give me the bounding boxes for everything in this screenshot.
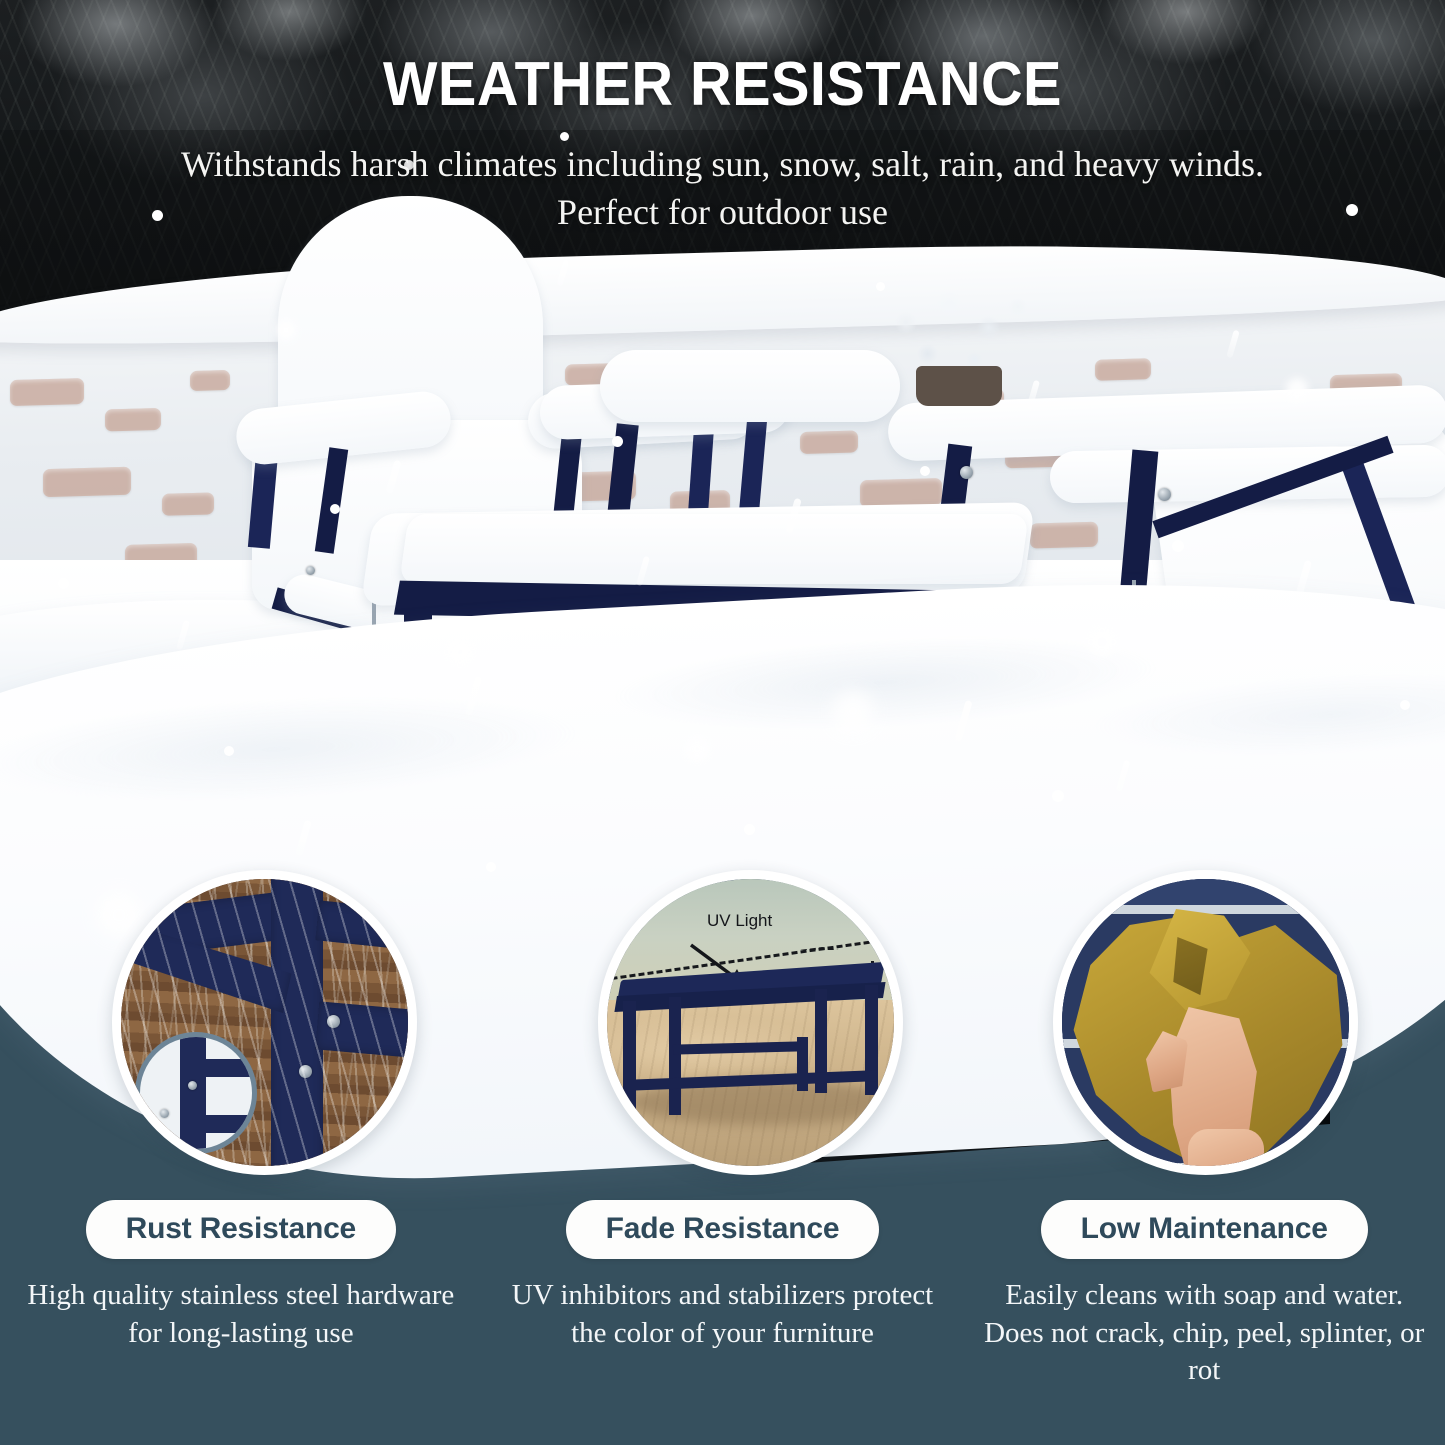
page-title: WEATHER RESISTANCE [51,52,1395,117]
low-maintenance-thumbnail[interactable] [1053,870,1358,1175]
navy-slat [1062,879,1349,905]
feature-description-maintenance: Easily cleans with soap and water. Does … [981,1277,1427,1390]
table-leg [623,1001,636,1113]
feature-card-maintenance: Low Maintenance Easily cleans with soap … [963,1200,1445,1445]
status-badge-rust[interactable]: Rust Resistance [86,1200,396,1259]
screw-head [188,1081,197,1090]
rust-resistance-thumbnail[interactable] [112,870,417,1175]
feature-description-rust: High quality stainless steel hardware fo… [18,1277,464,1352]
status-badge-maintenance[interactable]: Low Maintenance [1041,1200,1368,1259]
feature-card-rust: Rust Resistance High quality stainless s… [0,1200,482,1445]
status-badge-fade[interactable]: Fade Resistance [566,1200,880,1259]
screw-head [160,1109,169,1118]
forearm [1188,1129,1264,1166]
feature-card-fade: Fade Resistance UV inhibitors and stabil… [482,1200,964,1445]
slat-gap [1062,905,1349,914]
uv-light-label: UV Light [707,911,772,931]
magnified-joint-inset [135,1032,257,1154]
feature-description-fade: UV inhibitors and stabilizers protect th… [500,1277,946,1352]
feature-cards: Rust Resistance High quality stainless s… [0,1200,1445,1445]
infographic-stage: UV Light [0,0,1445,1445]
table-leg [669,997,681,1115]
page-subtitle: Withstands harsh climates including sun,… [178,141,1268,237]
header-block: WEATHER RESISTANCE Withstands harsh clim… [0,0,1445,237]
fade-resistance-thumbnail[interactable]: UV Light [598,870,903,1175]
